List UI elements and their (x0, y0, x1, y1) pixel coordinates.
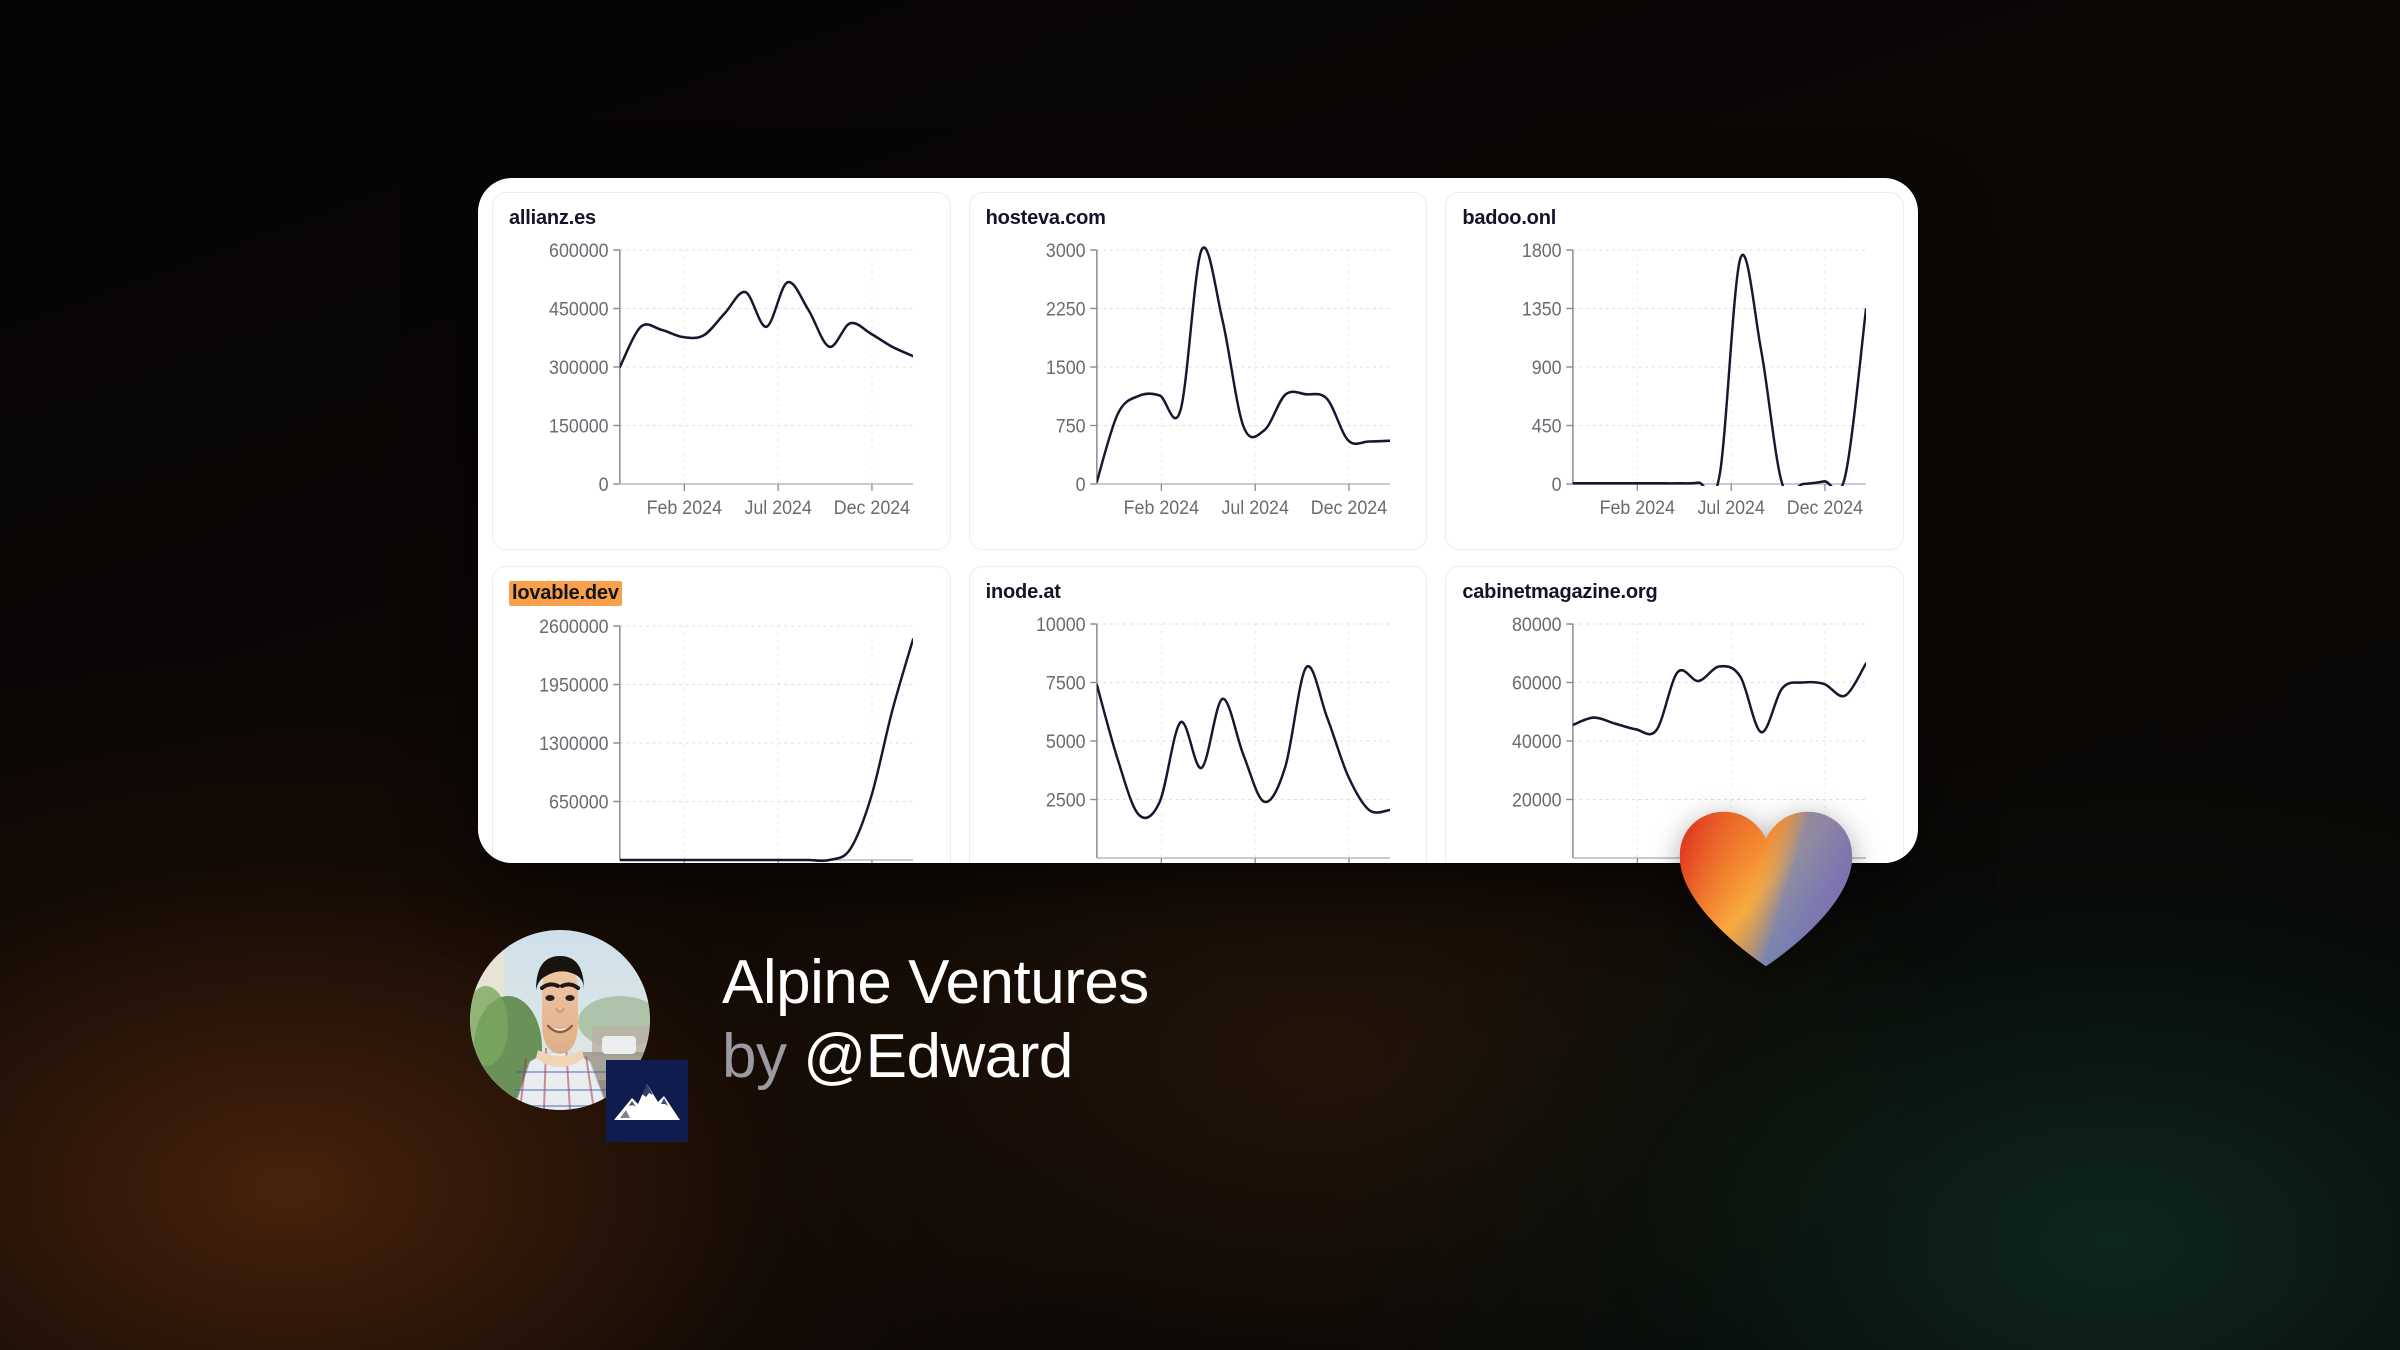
dashboard-screenshot-card: allianz.es0150000300000450000600000Feb 2… (478, 178, 1918, 863)
svg-text:1350: 1350 (1522, 298, 1562, 320)
svg-text:Jul 2024: Jul 2024 (1221, 496, 1288, 518)
svg-text:0: 0 (599, 473, 609, 495)
author-handle: @Edward (803, 1022, 1073, 1091)
byline-prefix: by (722, 1022, 786, 1091)
svg-text:2250: 2250 (1046, 298, 1086, 320)
svg-text:Dec 2024: Dec 2024 (1310, 496, 1386, 518)
svg-text:0: 0 (1552, 473, 1562, 495)
svg-text:1300000: 1300000 (539, 732, 608, 754)
gradient-heart-icon (1672, 810, 1860, 968)
svg-text:2500: 2500 (1046, 789, 1086, 811)
svg-text:Jul 2024: Jul 2024 (744, 496, 811, 518)
chart-card-allianz-es[interactable]: allianz.es0150000300000450000600000Feb 2… (492, 192, 951, 550)
chart-plot: 650000130000019500002600000Feb 2024Jul 2… (509, 610, 934, 863)
svg-text:Feb 2024: Feb 2024 (1600, 496, 1675, 518)
svg-text:10000: 10000 (1036, 613, 1086, 635)
svg-text:40000: 40000 (1512, 730, 1562, 752)
svg-text:150000: 150000 (549, 415, 609, 437)
svg-text:650000: 650000 (549, 791, 609, 813)
charts-grid: allianz.es0150000300000450000600000Feb 2… (478, 178, 1918, 863)
svg-text:2600000: 2600000 (539, 615, 608, 637)
svg-text:Jul 2024: Jul 2024 (1698, 496, 1765, 518)
chart-title: badoo.onl (1462, 207, 1556, 230)
svg-text:Feb 2024: Feb 2024 (1123, 496, 1198, 518)
svg-text:3000: 3000 (1046, 239, 1086, 261)
svg-text:20000: 20000 (1512, 789, 1562, 811)
svg-text:900: 900 (1532, 356, 1562, 378)
avatar-wrapper (470, 930, 650, 1110)
chart-card-lovable-dev[interactable]: lovable.dev650000130000019500002600000Fe… (492, 566, 951, 863)
svg-text:1800: 1800 (1522, 239, 1562, 261)
svg-text:750: 750 (1055, 415, 1085, 437)
chart-card-badoo-onl[interactable]: badoo.onl045090013501800Feb 2024Jul 2024… (1445, 192, 1904, 550)
svg-text:450: 450 (1532, 415, 1562, 437)
svg-text:600000: 600000 (549, 239, 609, 261)
byline: by @Edward (722, 1023, 1149, 1091)
svg-text:Dec 2024: Dec 2024 (1787, 496, 1863, 518)
svg-text:Dec 2024: Dec 2024 (834, 496, 910, 518)
svg-text:60000: 60000 (1512, 672, 1562, 694)
svg-text:0: 0 (1075, 473, 1085, 495)
caption-text: Alpine Ventures by @Edward (722, 949, 1149, 1091)
chart-title: inode.at (986, 581, 1061, 604)
chart-title: allianz.es (509, 207, 596, 230)
chart-card-hosteva-com[interactable]: hosteva.com0750150022503000Feb 2024Jul 2… (969, 192, 1428, 550)
mountain-logo-icon (606, 1060, 688, 1142)
chart-title: lovable.dev (509, 581, 622, 606)
svg-text:300000: 300000 (549, 356, 609, 378)
chart-card-inode-at[interactable]: inode.at25005000750010000Feb 2024Jul 202… (969, 566, 1428, 863)
caption-row: Alpine Ventures by @Edward (470, 930, 1149, 1110)
chart-plot: 0150000300000450000600000Feb 2024Jul 202… (509, 234, 934, 534)
chart-title: cabinetmagazine.org (1462, 581, 1657, 604)
svg-text:1950000: 1950000 (539, 674, 608, 696)
svg-text:5000: 5000 (1046, 730, 1086, 752)
page-title: Alpine Ventures (722, 949, 1149, 1017)
svg-text:1500: 1500 (1046, 356, 1086, 378)
svg-text:80000: 80000 (1512, 613, 1562, 635)
chart-plot: 045090013501800Feb 2024Jul 2024Dec 2024 (1462, 234, 1887, 534)
svg-text:Feb 2024: Feb 2024 (647, 496, 722, 518)
chart-plot: 0750150022503000Feb 2024Jul 2024Dec 2024 (986, 234, 1411, 534)
svg-text:450000: 450000 (549, 298, 609, 320)
chart-title: hosteva.com (986, 207, 1106, 230)
svg-text:7500: 7500 (1046, 672, 1086, 694)
chart-plot: 25005000750010000Feb 2024Jul 2024Dec 202… (986, 608, 1411, 863)
